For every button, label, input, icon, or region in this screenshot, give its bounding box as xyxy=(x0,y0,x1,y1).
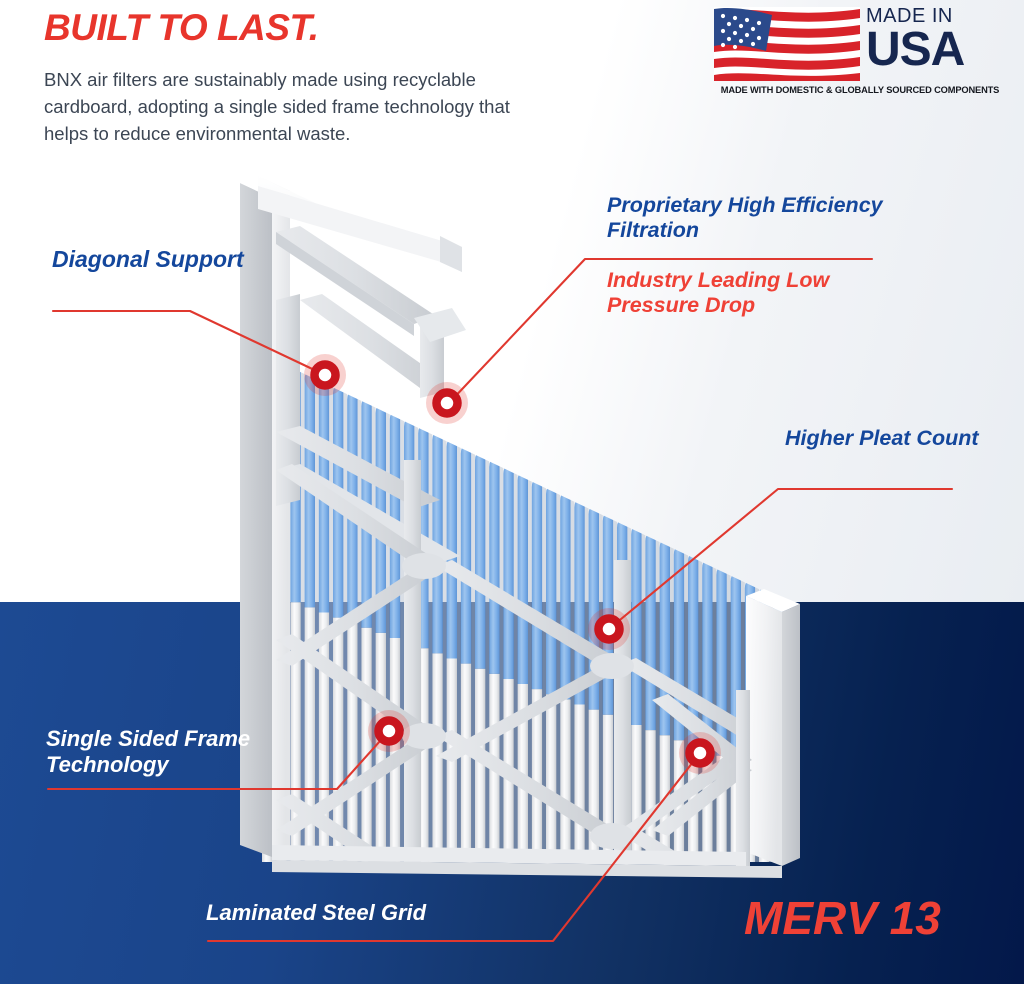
headline-body: BNX air filters are sustainably made usi… xyxy=(44,66,514,147)
marker-diagonal-support[interactable] xyxy=(315,365,336,386)
callout-laminated-steel-grid[interactable]: Laminated Steel Grid xyxy=(206,900,506,926)
usa-flag-icon xyxy=(714,7,860,81)
callout-single-sided-frame[interactable]: Single Sided Frame Technology xyxy=(46,726,346,777)
callout-diagonal-support[interactable]: Diagonal Support xyxy=(52,246,272,273)
badge-usa-label: USA xyxy=(866,27,1006,73)
callout-proprietary-filtration[interactable]: Proprietary High Efficiency Filtration xyxy=(607,193,897,243)
page-title: BUILT TO LAST. xyxy=(44,8,514,48)
infographic-stage: BUILT TO LAST. BNX air filters are susta… xyxy=(0,0,1024,984)
marker-proprietary-filtration[interactable] xyxy=(437,393,458,414)
callout-pressure-drop[interactable]: Industry Leading Low Pressure Drop xyxy=(607,268,907,318)
marker-single-sided-frame[interactable] xyxy=(379,721,400,742)
headline-block: BUILT TO LAST. BNX air filters are susta… xyxy=(44,8,514,147)
merv-rating-badge: MERV 13 xyxy=(744,895,941,941)
made-in-usa-badge: MADE IN USA MADE WITH DOMESTIC & GLOBALL… xyxy=(714,5,1006,103)
badge-subtitle: MADE WITH DOMESTIC & GLOBALLY SOURCED CO… xyxy=(714,85,1006,95)
usa-badge-text: MADE IN USA xyxy=(866,5,1006,73)
marker-higher-pleat-count[interactable] xyxy=(599,619,620,640)
marker-laminated-steel-grid[interactable] xyxy=(690,743,711,764)
hotspot-markers[interactable] xyxy=(0,0,1024,984)
callout-higher-pleat-count[interactable]: Higher Pleat Count xyxy=(785,426,1015,451)
